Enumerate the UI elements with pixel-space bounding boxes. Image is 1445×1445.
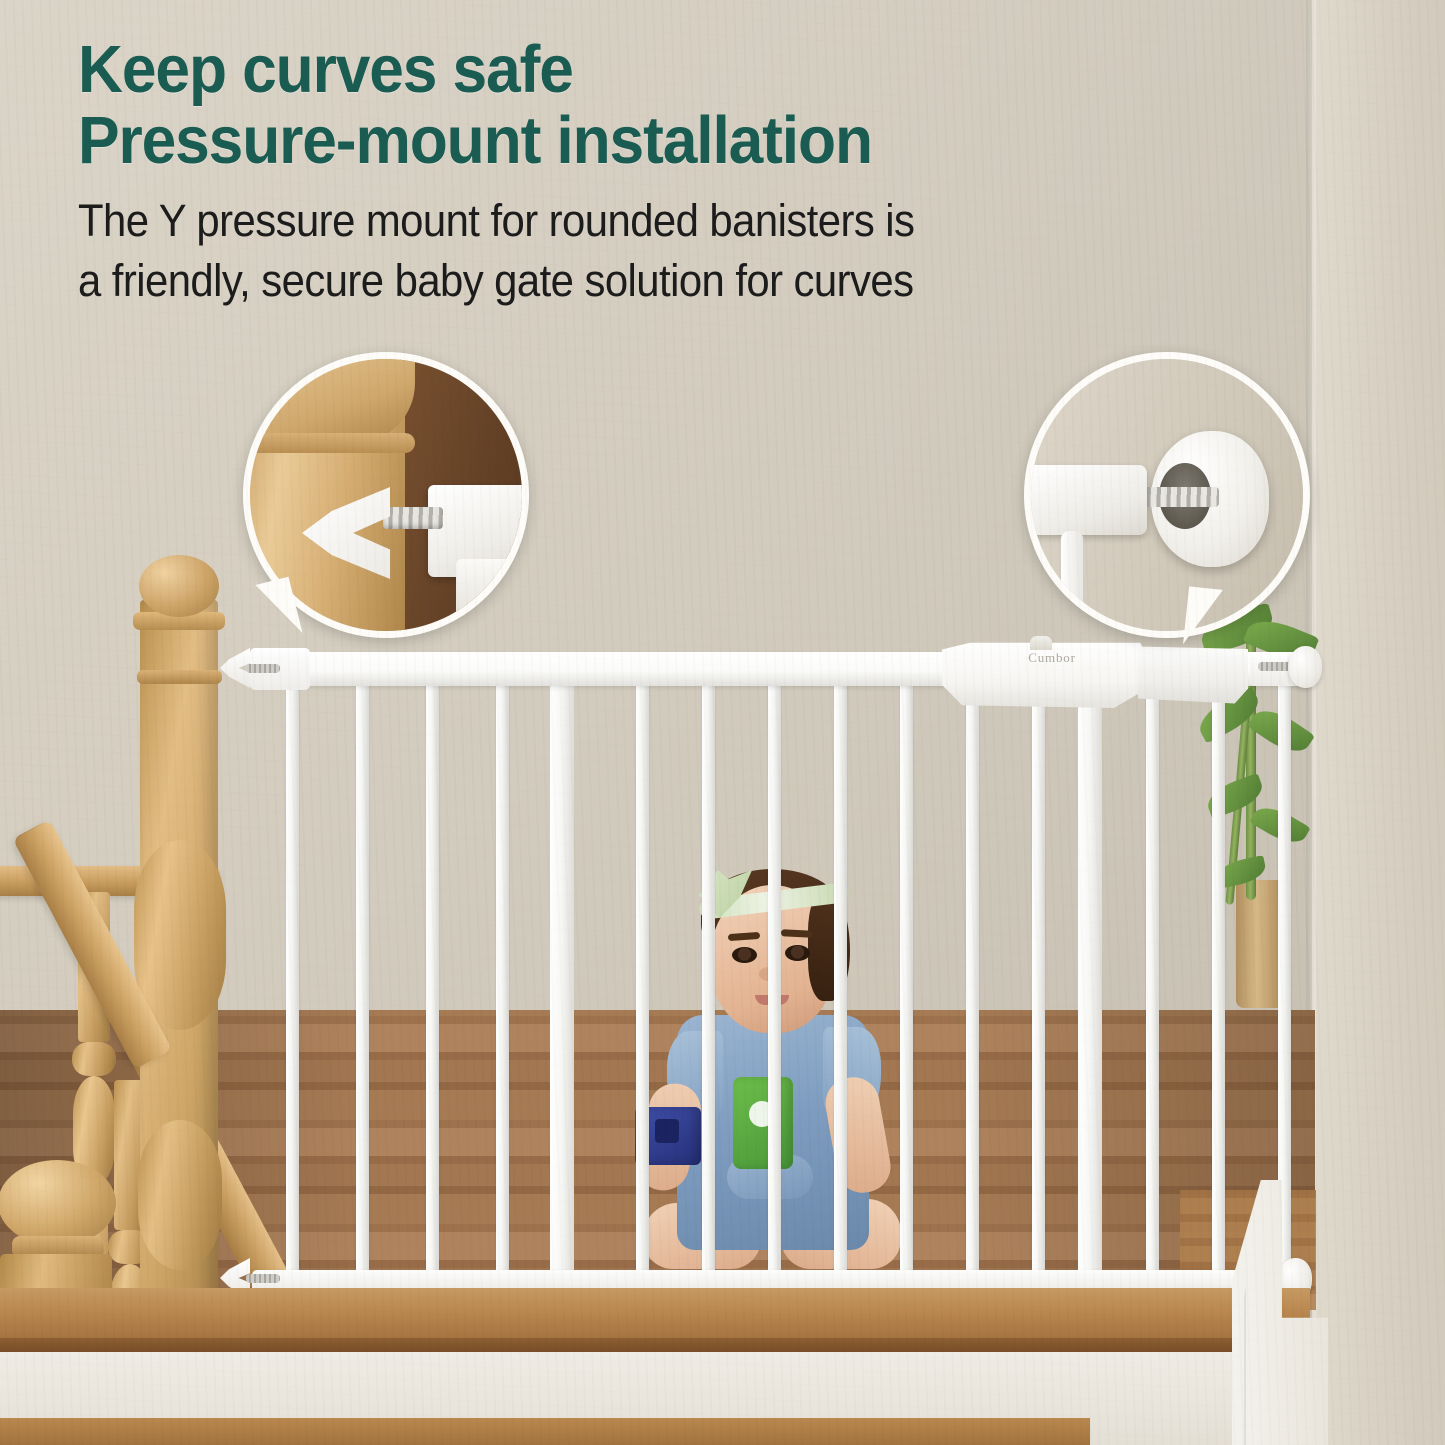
product-marketing-image: Cumbor	[0, 0, 1445, 1445]
subtitle-line-2: a friendly, secure baby gate solution fo…	[78, 252, 1175, 310]
headline-line-1: Keep curves safe	[78, 34, 1175, 105]
subtitle-line-1: The Y pressure mount for rounded baniste…	[78, 192, 1175, 250]
headline-block: Keep curves safe Pressure-mount installa…	[78, 34, 1258, 309]
headline-line-2: Pressure-mount installation	[78, 105, 1175, 176]
